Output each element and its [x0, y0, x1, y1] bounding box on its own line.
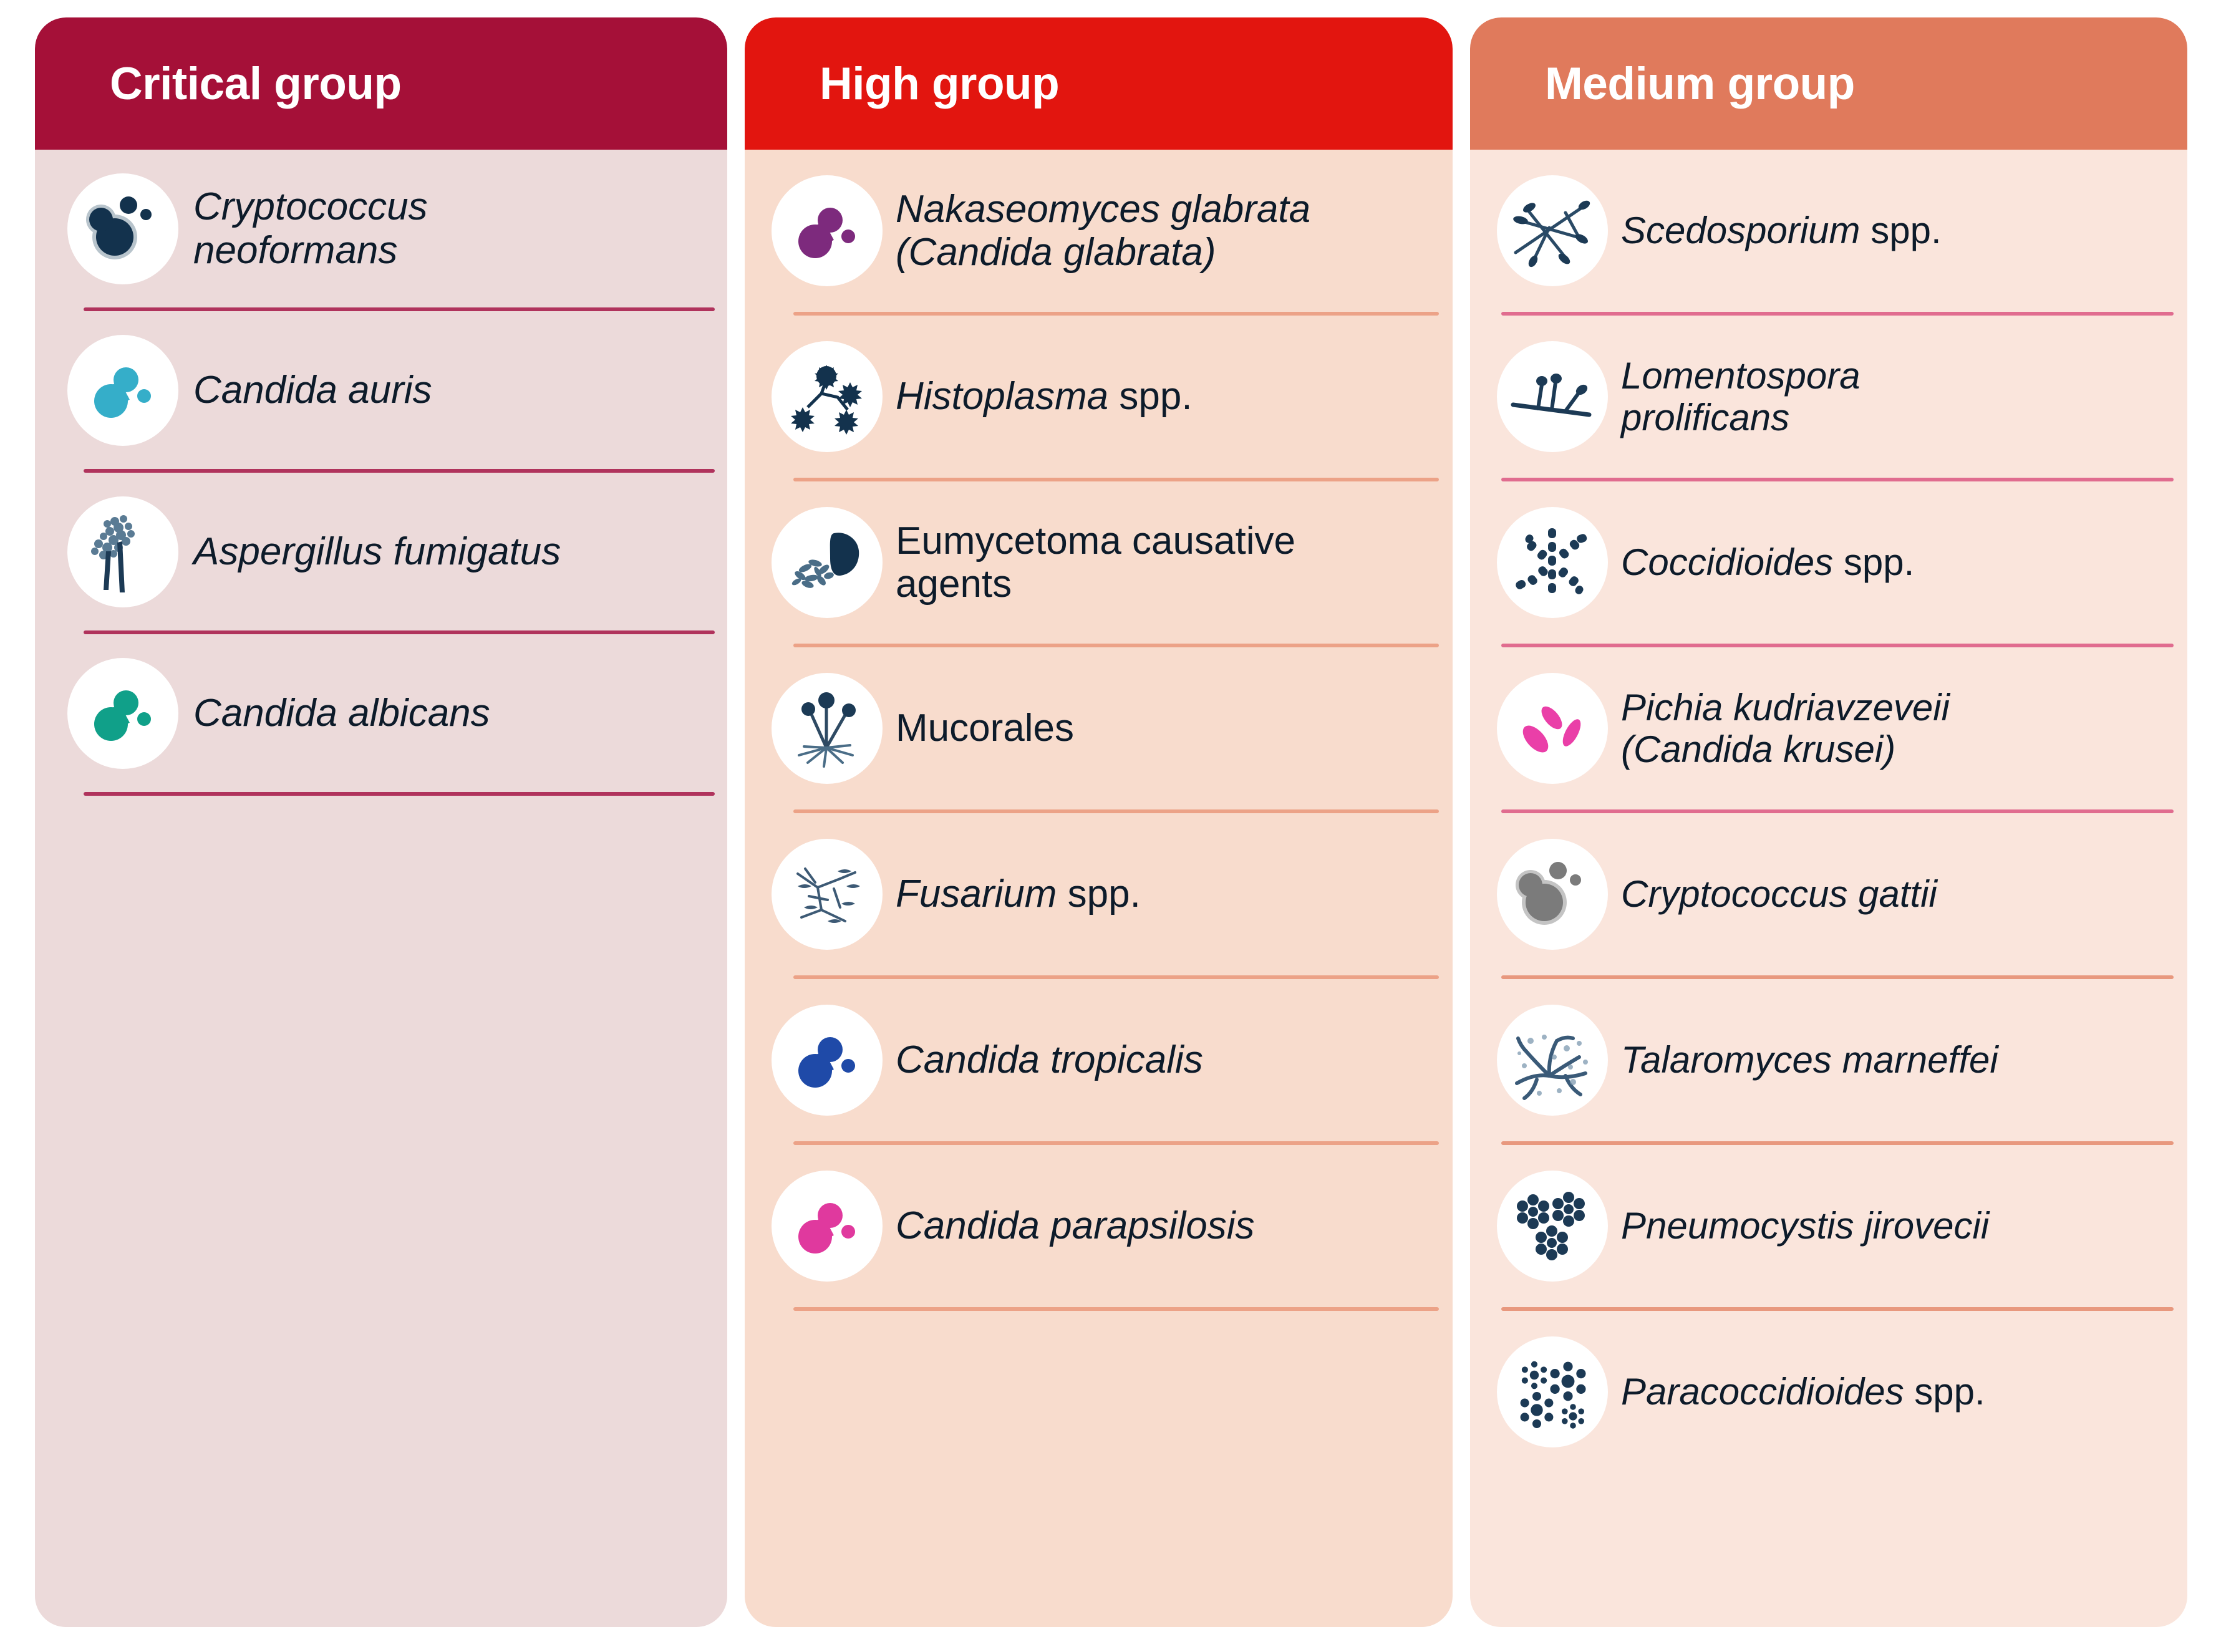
icon-container [1484, 1171, 1621, 1282]
pichia-elongated-yeast-pink-icon [1497, 673, 1608, 784]
icon-container [52, 173, 193, 284]
species-line-1: Aspergillus fumigatus [193, 530, 561, 573]
icon-container [758, 1171, 896, 1282]
icon-container [758, 341, 896, 452]
list-item[interactable]: Candida auris [35, 311, 727, 469]
list-item-label: Scedosporium spp. [1621, 210, 1967, 251]
species-line-1: Paracoccidioides [1621, 1371, 1904, 1413]
list-item[interactable]: Scedosporium spp. [1470, 150, 2187, 312]
species-suffix: spp. [1833, 541, 1914, 583]
fusarium-hyphae-icon [772, 839, 883, 950]
icon-container [1484, 341, 1621, 452]
header-critical-group: Critical group [35, 17, 727, 150]
species-line-1: Nakaseomyces glabrata [896, 188, 1310, 231]
species-line-2: (Candida krusei) [1621, 728, 1950, 770]
species-line-1: Cryptococcus gattii [1621, 873, 1937, 915]
coccidioides-arthroconidia-icon [1497, 507, 1608, 618]
pneumocystis-cysts-icon [1497, 1171, 1608, 1282]
list-item[interactable]: Candida parapsilosis [745, 1145, 1453, 1307]
species-line-1: Candida parapsilosis [896, 1204, 1255, 1247]
list-item-label: Eumycetoma causative agents [896, 519, 1320, 606]
list-item-label: Pneumocystis jirovecii [1621, 1205, 2014, 1247]
species-line-2: (Candida glabrata) [896, 231, 1310, 274]
species-line-1: Candida tropicalis [896, 1038, 1203, 1081]
high-group-title: High group [820, 61, 1059, 107]
list-item-label: Fusarium spp. [896, 872, 1166, 915]
list-item-label: Histoplasma spp. [896, 375, 1217, 418]
aspergillus-conidiophore-icon [67, 496, 178, 607]
list-item[interactable]: Pichia kudriavzeveii (Candida krusei) [1470, 647, 2187, 809]
species-suffix: spp. [1108, 375, 1192, 418]
list-item-label: Coccidioides spp. [1621, 541, 1939, 583]
list-item[interactable]: Cryptococcus gattii [1470, 813, 2187, 975]
lomentospora-annellides-icon [1497, 341, 1608, 452]
column-medium-group: Medium group [1470, 17, 2187, 1627]
species-line-1: Cryptococcus [193, 185, 428, 228]
fungal-priority-pathogens-board: Critical group [0, 0, 2221, 1652]
medium-group-list: Scedosporium spp. [1470, 150, 2187, 1627]
list-item[interactable]: Pneumocystis jirovecii [1470, 1145, 2187, 1307]
header-high-group: High group [745, 17, 1453, 150]
critical-empty-space [35, 796, 727, 1627]
species-line-1: Candida albicans [193, 692, 490, 735]
icon-container [52, 496, 193, 607]
list-item-label: Cryptococcus gattii [1621, 873, 1962, 915]
list-item-label: Candida parapsilosis [896, 1204, 1280, 1247]
list-item-label: Cryptococcus neoformans [193, 185, 453, 272]
list-item[interactable]: Paracoccidioides spp. [1470, 1311, 2187, 1473]
list-item[interactable]: Eumycetoma causative agents [745, 481, 1453, 644]
column-high-group: High group [745, 17, 1453, 1627]
species-line-1: Scedosporium [1621, 210, 1861, 251]
list-item[interactable]: Talaromyces marneffei [1470, 979, 2187, 1141]
list-item-label: Candida auris [193, 369, 457, 412]
icon-container [758, 507, 896, 618]
list-item[interactable]: Cryptococcus neoformans [35, 150, 727, 307]
budding-yeast-green-icon [67, 658, 178, 769]
list-item[interactable]: Aspergillus fumigatus [35, 473, 727, 630]
icon-container [1484, 1336, 1621, 1447]
icon-container [758, 175, 896, 286]
species-line-1: Fusarium [896, 872, 1057, 915]
species-line-1: Histoplasma [896, 375, 1108, 418]
icon-container [758, 839, 896, 950]
icon-container [758, 1005, 896, 1116]
talaromyces-mycelium-icon [1497, 1005, 1608, 1116]
icon-container [1484, 1005, 1621, 1116]
mucorales-sporangia-icon [772, 673, 883, 784]
list-item-label: Lomentospora prolificans [1621, 355, 1885, 438]
list-item-label: Candida tropicalis [896, 1038, 1228, 1081]
scedosporium-conidia-hyphae-icon [1497, 175, 1608, 286]
icon-container [1484, 839, 1621, 950]
budding-yeast-cyan-icon [67, 335, 178, 446]
species-line-1: Pneumocystis jirovecii [1621, 1205, 1989, 1247]
species-suffix: spp. [1057, 872, 1140, 915]
list-item[interactable]: Lomentospora prolificans [1470, 316, 2187, 478]
list-item-label: Nakaseomyces glabrata (Candida glabrata) [896, 188, 1335, 274]
species-suffix: spp. [1904, 1371, 1985, 1413]
budding-yeast-blue-icon [772, 1005, 883, 1116]
species-line-1: Mucorales [896, 707, 1074, 750]
species-suffix: spp. [1861, 210, 1942, 251]
icon-container [52, 335, 193, 446]
list-item[interactable]: Fusarium spp. [745, 813, 1453, 975]
species-line-1: Coccidioides [1621, 541, 1833, 583]
species-line-1: Pichia kudriavzeveii [1621, 687, 1950, 728]
header-medium-group: Medium group [1470, 17, 2187, 150]
column-critical-group: Critical group [35, 17, 727, 1627]
species-line-1: Lomentospora [1621, 355, 1861, 397]
medium-group-title: Medium group [1545, 61, 1855, 107]
species-line-1: Eumycetoma causative [896, 519, 1295, 563]
eumycetoma-grain-icon [772, 507, 883, 618]
high-empty-space [745, 1311, 1453, 1627]
list-item-label: Candida albicans [193, 692, 515, 735]
list-item[interactable]: Mucorales [745, 647, 1453, 809]
critical-group-title: Critical group [110, 61, 402, 107]
budding-yeast-purple-icon [772, 175, 883, 286]
list-item-label: Aspergillus fumigatus [193, 530, 586, 573]
budding-yeast-capsule-grey-icon [1497, 839, 1608, 950]
species-line-2: prolificans [1621, 397, 1861, 438]
histoplasma-tuberculate-macroconidia-icon [772, 341, 883, 452]
species-line-1: Candida auris [193, 369, 432, 412]
icon-container [52, 658, 193, 769]
species-line-1: Talaromyces marneffei [1621, 1039, 1998, 1081]
list-item-label: Paracoccidioides spp. [1621, 1371, 2010, 1413]
list-item-label: Talaromyces marneffei [1621, 1039, 2023, 1081]
icon-container [1484, 673, 1621, 784]
species-line-2: agents [896, 563, 1295, 606]
list-item[interactable]: Candida tropicalis [745, 979, 1453, 1141]
budding-yeast-capsule-navy-icon [67, 173, 178, 284]
budding-yeast-magenta-icon [772, 1171, 883, 1282]
list-item[interactable]: Candida albicans [35, 634, 727, 792]
list-item-label: Mucorales [896, 707, 1099, 750]
list-item[interactable]: Coccidioides spp. [1470, 481, 2187, 644]
list-item[interactable]: Histoplasma spp. [745, 316, 1453, 478]
critical-group-list: Cryptococcus neoformans [35, 150, 727, 1627]
medium-empty-space [1470, 1473, 2187, 1627]
species-line-2: neoformans [193, 229, 428, 272]
list-item-label: Pichia kudriavzeveii (Candida krusei) [1621, 687, 1975, 770]
paracoccidioides-pilot-wheel-icon [1497, 1336, 1608, 1447]
high-group-list: Nakaseomyces glabrata (Candida glabrata) [745, 150, 1453, 1627]
list-item[interactable]: Nakaseomyces glabrata (Candida glabrata) [745, 150, 1453, 312]
icon-container [758, 673, 896, 784]
icon-container [1484, 507, 1621, 618]
icon-container [1484, 175, 1621, 286]
